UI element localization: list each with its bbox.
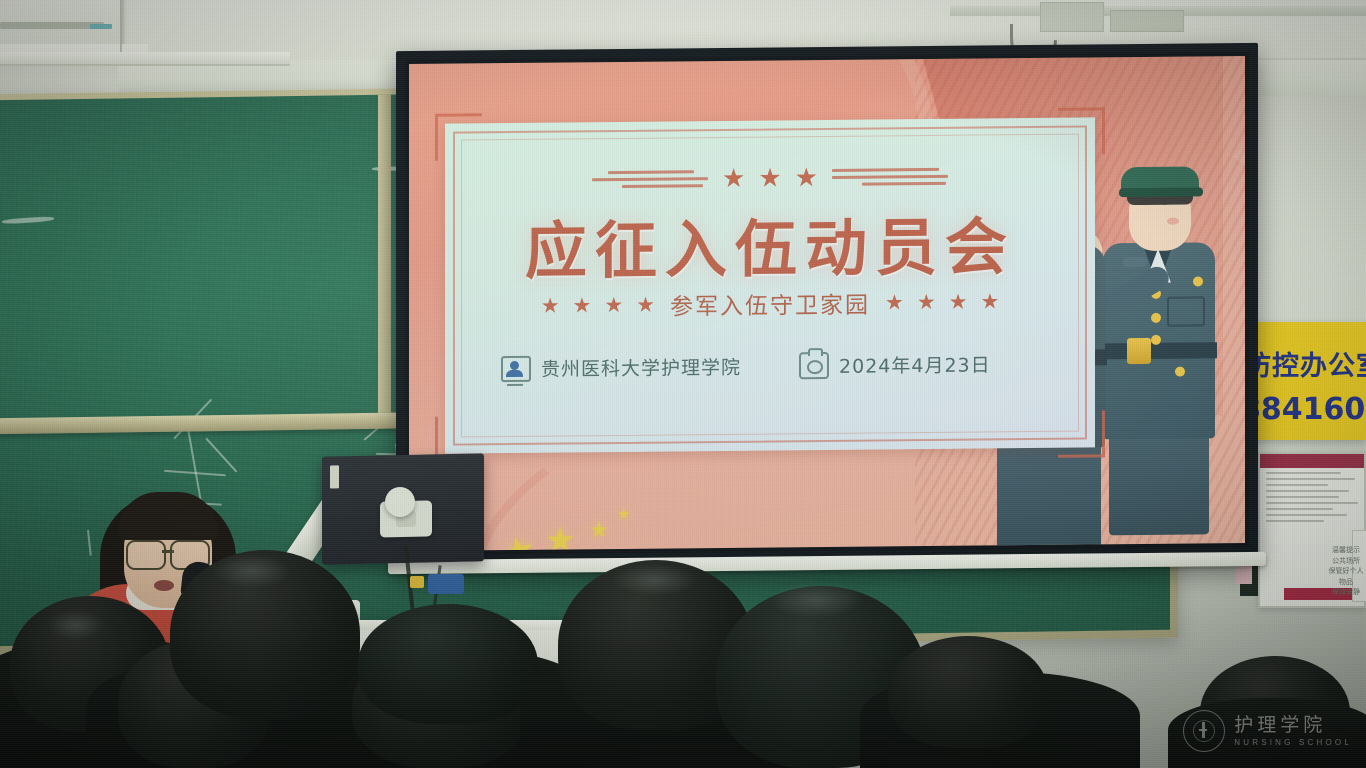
blue-device-box xyxy=(428,574,464,594)
monitor-arm-joint xyxy=(385,487,415,517)
projection-screen-frame: ★ ★ ★ 应征入伍动员会 ★ ★ ★ ★ 参军入伍守卫家园 ★ ★ ★ xyxy=(396,43,1258,571)
ornament-lines-left xyxy=(592,170,708,188)
head-highlight xyxy=(768,582,864,618)
yellow-connector xyxy=(410,576,424,588)
poster-text-line xyxy=(1266,484,1328,486)
slide-meta-row: 贵州医科大学护理学院 2024年4月23日 xyxy=(501,350,1039,382)
card-corner-bottom-right xyxy=(1058,410,1105,457)
head-highlight xyxy=(212,554,292,588)
decorative-star-icon: ★ xyxy=(545,523,575,551)
subtitle-star-icon: ★ xyxy=(917,291,936,312)
ac-label-sticker xyxy=(90,24,112,29)
subtitle-star-icon: ★ xyxy=(636,294,655,315)
head-highlight xyxy=(612,564,698,596)
projected-slide: ★ ★ ★ 应征入伍动员会 ★ ★ ★ ★ 参军入伍守卫家园 ★ ★ ★ xyxy=(409,56,1245,551)
soldier-button xyxy=(1151,335,1161,345)
soldier-button xyxy=(1151,313,1161,323)
cross-icon xyxy=(1199,722,1207,738)
slide-organization: 贵州医科大学护理学院 xyxy=(541,353,741,382)
ornament-star-icon: ★ xyxy=(722,165,745,191)
student-head xyxy=(358,604,538,724)
poster-text-line xyxy=(1266,478,1355,480)
slide-date-item: 2024年4月23日 xyxy=(799,350,991,379)
poster-header-band xyxy=(1260,454,1364,468)
air-conditioner-unit xyxy=(0,0,124,49)
ceiling-seam xyxy=(120,0,122,58)
poster-text-line xyxy=(1266,472,1341,474)
poster-text-line xyxy=(1266,514,1347,516)
subtitle-star-icon: ★ xyxy=(980,291,999,312)
slide-subtitle-row: ★ ★ ★ ★ 参军入伍守卫家园 ★ ★ ★ ★ xyxy=(445,283,1095,323)
ac-vent xyxy=(0,22,104,29)
nursing-cross-logo-icon xyxy=(1183,710,1225,752)
presenter-icon-head xyxy=(510,360,519,369)
presenter-mouth xyxy=(154,580,174,591)
subtitle-star-icon: ★ xyxy=(541,295,560,316)
soldier-button xyxy=(1175,367,1185,377)
soldier-button xyxy=(1193,276,1203,286)
ornament-star-icon: ★ xyxy=(758,164,781,190)
decorative-star-icon: ★ xyxy=(617,507,630,522)
calendar-clock-icon-dial xyxy=(807,360,823,374)
soldier-cap-brim xyxy=(1119,187,1203,197)
decorative-star-icon: ★ xyxy=(589,519,609,541)
ornament-lines-right xyxy=(832,167,948,185)
ornament-star-icon: ★ xyxy=(795,164,818,190)
subtitle-star-icon: ★ xyxy=(949,291,968,312)
photo-scene: 温馨提示公共场所保管好个人物品保持安静 防控办公室 88416022 xyxy=(0,0,1366,768)
student-head xyxy=(888,636,1048,748)
watermark-cn-text: 护理学院 xyxy=(1234,715,1352,736)
wall-sign-line2: 88416022 xyxy=(1240,392,1366,427)
subtitle-star-icon: ★ xyxy=(885,292,904,313)
chalkboard-panel-divider xyxy=(378,95,391,413)
poster-text-line xyxy=(1266,490,1349,492)
card-corner-top-left xyxy=(435,113,482,160)
ornament-star-group: ★ ★ ★ xyxy=(722,164,818,191)
presenter-hair-top xyxy=(118,492,218,540)
wall-sign-office: 防控办公室 88416022 xyxy=(1246,322,1366,440)
poster-text-line xyxy=(1266,502,1358,504)
poster-text-line xyxy=(1266,496,1339,498)
slide-top-ornament: ★ ★ ★ xyxy=(445,157,1095,197)
wall-notice-text: 温馨提示公共场所保管好个人物品保持安静 xyxy=(1326,546,1366,599)
nursing-school-watermark: 护理学院 NURSING SCHOOL xyxy=(1183,710,1352,752)
poster-text-line xyxy=(1266,520,1324,522)
card-corner-top-right xyxy=(1058,107,1105,154)
eyeglass-lens-left xyxy=(126,540,166,570)
soldier-chest-pocket xyxy=(1167,296,1205,326)
poster-text-line xyxy=(1266,508,1333,510)
head-highlight xyxy=(46,610,106,640)
monitor-brand-logo xyxy=(330,465,339,488)
slide-date: 2024年4月23日 xyxy=(839,350,991,378)
slide-subtitle: 参军入伍守卫家园 xyxy=(668,286,872,322)
wall-sign-line1: 防控办公室 xyxy=(1244,344,1366,383)
ceiling-rail xyxy=(0,52,290,66)
watermark-en-text: NURSING SCHOOL xyxy=(1234,738,1352,747)
soldier-belt-buckle xyxy=(1127,338,1151,364)
slide-content-card: ★ ★ ★ 应征入伍动员会 ★ ★ ★ ★ 参军入伍守卫家园 ★ ★ ★ xyxy=(445,117,1095,453)
presenter-icon-body xyxy=(506,369,523,376)
slide-organization-item: 贵州医科大学护理学院 xyxy=(501,353,741,382)
subtitle-star-icon: ★ xyxy=(604,294,623,315)
slide-title: 应征入伍动员会 xyxy=(445,195,1095,291)
watermark-text-block: 护理学院 NURSING SCHOOL xyxy=(1234,715,1352,747)
subtitle-star-icon: ★ xyxy=(573,295,592,316)
presenter-icon xyxy=(501,355,531,381)
calendar-clock-icon xyxy=(799,352,829,379)
